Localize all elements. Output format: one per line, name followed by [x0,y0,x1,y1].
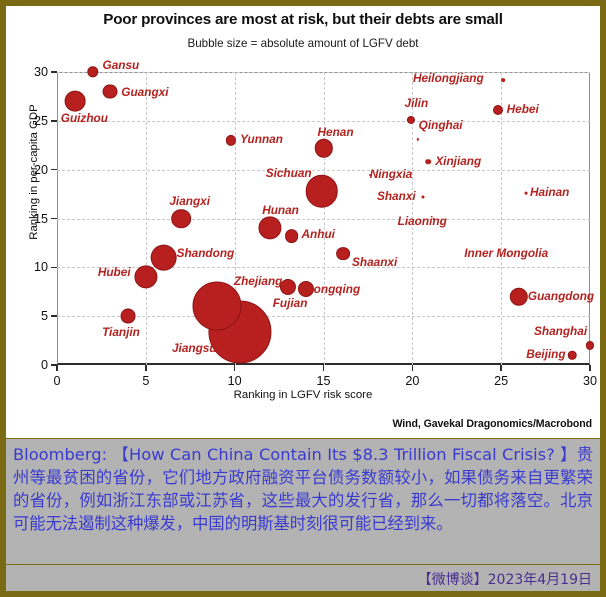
post-caption: Bloomberg: 【How Can China Contain Its $8… [6,438,600,591]
y-tick-label: 25 [34,114,48,128]
label-xinjiang: Xinjiang [435,156,481,168]
y-tick [51,71,57,73]
x-tick-label: 10 [228,374,242,388]
x-tick [412,365,414,371]
y-tick-label: 20 [34,163,48,177]
x-tick [56,365,58,371]
bubble-shaanxi [336,247,350,261]
bubble-xinjiang [426,159,432,165]
x-tick [589,365,591,371]
gridline-v [324,72,325,365]
label-hunan: Hunan [262,205,299,217]
bubble-anhui [285,229,299,243]
label-hubei: Hubei [98,267,131,279]
label-beijing: Beijing [526,349,565,361]
label-jiangxi: Jiangxi [169,196,210,208]
label-shanxi: Shanxi [377,191,416,203]
label-jilin: Jilin [405,98,429,110]
x-tick-label: 30 [583,374,597,388]
label-jiangsu: Jiangsu [172,343,217,355]
bubble-heilongjiang [501,78,505,82]
chart-subtitle: Bubble size = absolute amount of LGFV de… [6,37,600,50]
y-tick-label: 5 [41,309,48,323]
source-attribution: Wind, Gavekal Dragonomics/Macrobond [393,418,593,430]
y-tick-label: 15 [34,212,48,226]
scatter-plot-area: 051015202530051015202530 GansuGuangxiGui… [57,72,590,365]
label-chongqing: Chongqing [298,284,360,296]
y-tick-label: 10 [34,260,48,274]
label-guangxi: Guangxi [121,87,168,99]
label-hainan: Hainan [530,187,569,199]
bubble-shanghai [586,341,594,349]
label-heilongjiang: Heilongjiang [413,73,484,85]
label-shandong: Shandong [177,248,235,260]
chart-title: Poor provinces are most at risk, but the… [6,11,600,28]
label-gansu: Gansu [103,60,140,72]
x-tick [234,365,236,371]
dateline-bar: 【微博谈】2023年4月19日 [6,564,600,591]
label-shaanxi: Shaanxi [352,257,397,269]
caption-text: Bloomberg: 【How Can China Contain Its $8… [13,443,593,536]
bubble-jiangxi [172,209,192,229]
bubble-guangxi [103,84,118,99]
bubble-shandong [150,244,177,271]
label-guangdong: Guangdong [528,291,594,303]
x-tick-label: 5 [142,374,149,388]
label-shanghai: Shanghai [534,326,587,338]
label-henan: Henan [318,127,354,139]
gridline-v [501,72,502,365]
bubble-zhejiang [192,282,241,331]
label-zhejiang: Zhejiang [234,276,283,288]
x-axis-label: Ranking in LGFV risk score [6,389,600,401]
bubble-hainan [525,192,528,195]
chart-card: Poor provinces are most at risk, but the… [6,6,600,438]
label-fujian: Fujian [273,298,308,310]
x-tick-label: 25 [494,374,508,388]
label-liaoning: Liaoning [398,216,447,228]
x-tick-label: 0 [53,374,60,388]
label-hebei: Hebei [507,104,539,116]
x-tick [500,365,502,371]
label-anhui: Anhui [302,229,335,241]
label-guizhou: Guizhou [61,113,108,125]
y-tick [51,218,57,220]
y-tick-label: 30 [34,65,48,79]
bubble-beijing [568,351,577,360]
dateline-text: 【微博谈】2023年4月19日 [418,569,592,589]
x-tick [145,365,147,371]
y-tick [51,120,57,122]
label-tianjin: Tianjin [102,327,140,339]
label-inner-mongolia: Inner Mongolia [464,248,548,260]
x-tick-label: 20 [405,374,419,388]
bubble-hebei [493,105,503,115]
bubble-guizhou [64,91,85,112]
x-tick-label: 15 [316,374,330,388]
y-tick [51,169,57,171]
weibo-post-card: Poor provinces are most at risk, but the… [0,0,606,597]
label-qinghai: Qinghai [419,120,463,132]
x-tick [323,365,325,371]
label-ningxia: Ningxia [370,169,413,181]
bubble-tianjin [121,309,136,324]
y-tick [51,267,57,269]
y-tick [51,315,57,317]
y-tick-label: 0 [41,358,48,372]
label-sichuan: Sichuan [266,168,312,180]
label-yunnan: Yunnan [240,134,283,146]
gridline-v [146,72,147,365]
